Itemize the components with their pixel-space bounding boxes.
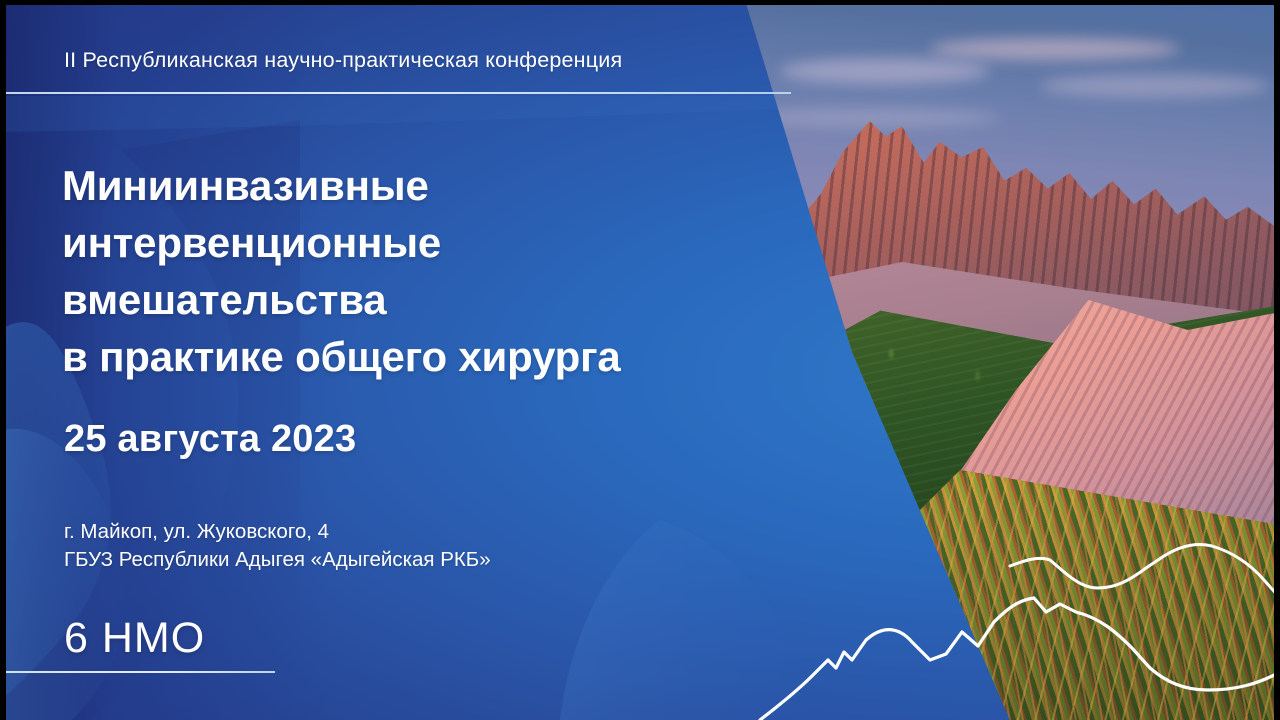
conference-poster: II Республиканская научно-практическая к… (0, 0, 1280, 720)
poster-content: II Республиканская научно-практическая к… (0, 0, 1280, 720)
title-line: интервенционные (62, 214, 842, 271)
venue-line: г. Майкоп, ул. Жуковского, 4 (64, 518, 491, 546)
venue-address: г. Майкоп, ул. Жуковского, 4 ГБУЗ Респуб… (64, 518, 491, 574)
cme-credits-badge: 6 НМО (64, 614, 205, 663)
frame-edge-right (1274, 0, 1280, 720)
conference-kicker: II Республиканская научно-практическая к… (64, 48, 622, 73)
header-divider (4, 92, 791, 94)
title-line: Миниинвазивные (62, 157, 842, 214)
venue-line: ГБУЗ Республики Адыгея «Адыгейская РКБ» (64, 546, 491, 574)
title-line: вмешательства (62, 271, 842, 328)
title-line: в практике общего хирурга (62, 328, 842, 385)
event-date: 25 августа 2023 (64, 418, 356, 461)
credits-underline (5, 671, 275, 673)
page-title: Миниинвазивные интервенционные вмешатель… (62, 157, 842, 385)
frame-edge-left (0, 0, 6, 720)
frame-edge-top (0, 0, 1280, 5)
